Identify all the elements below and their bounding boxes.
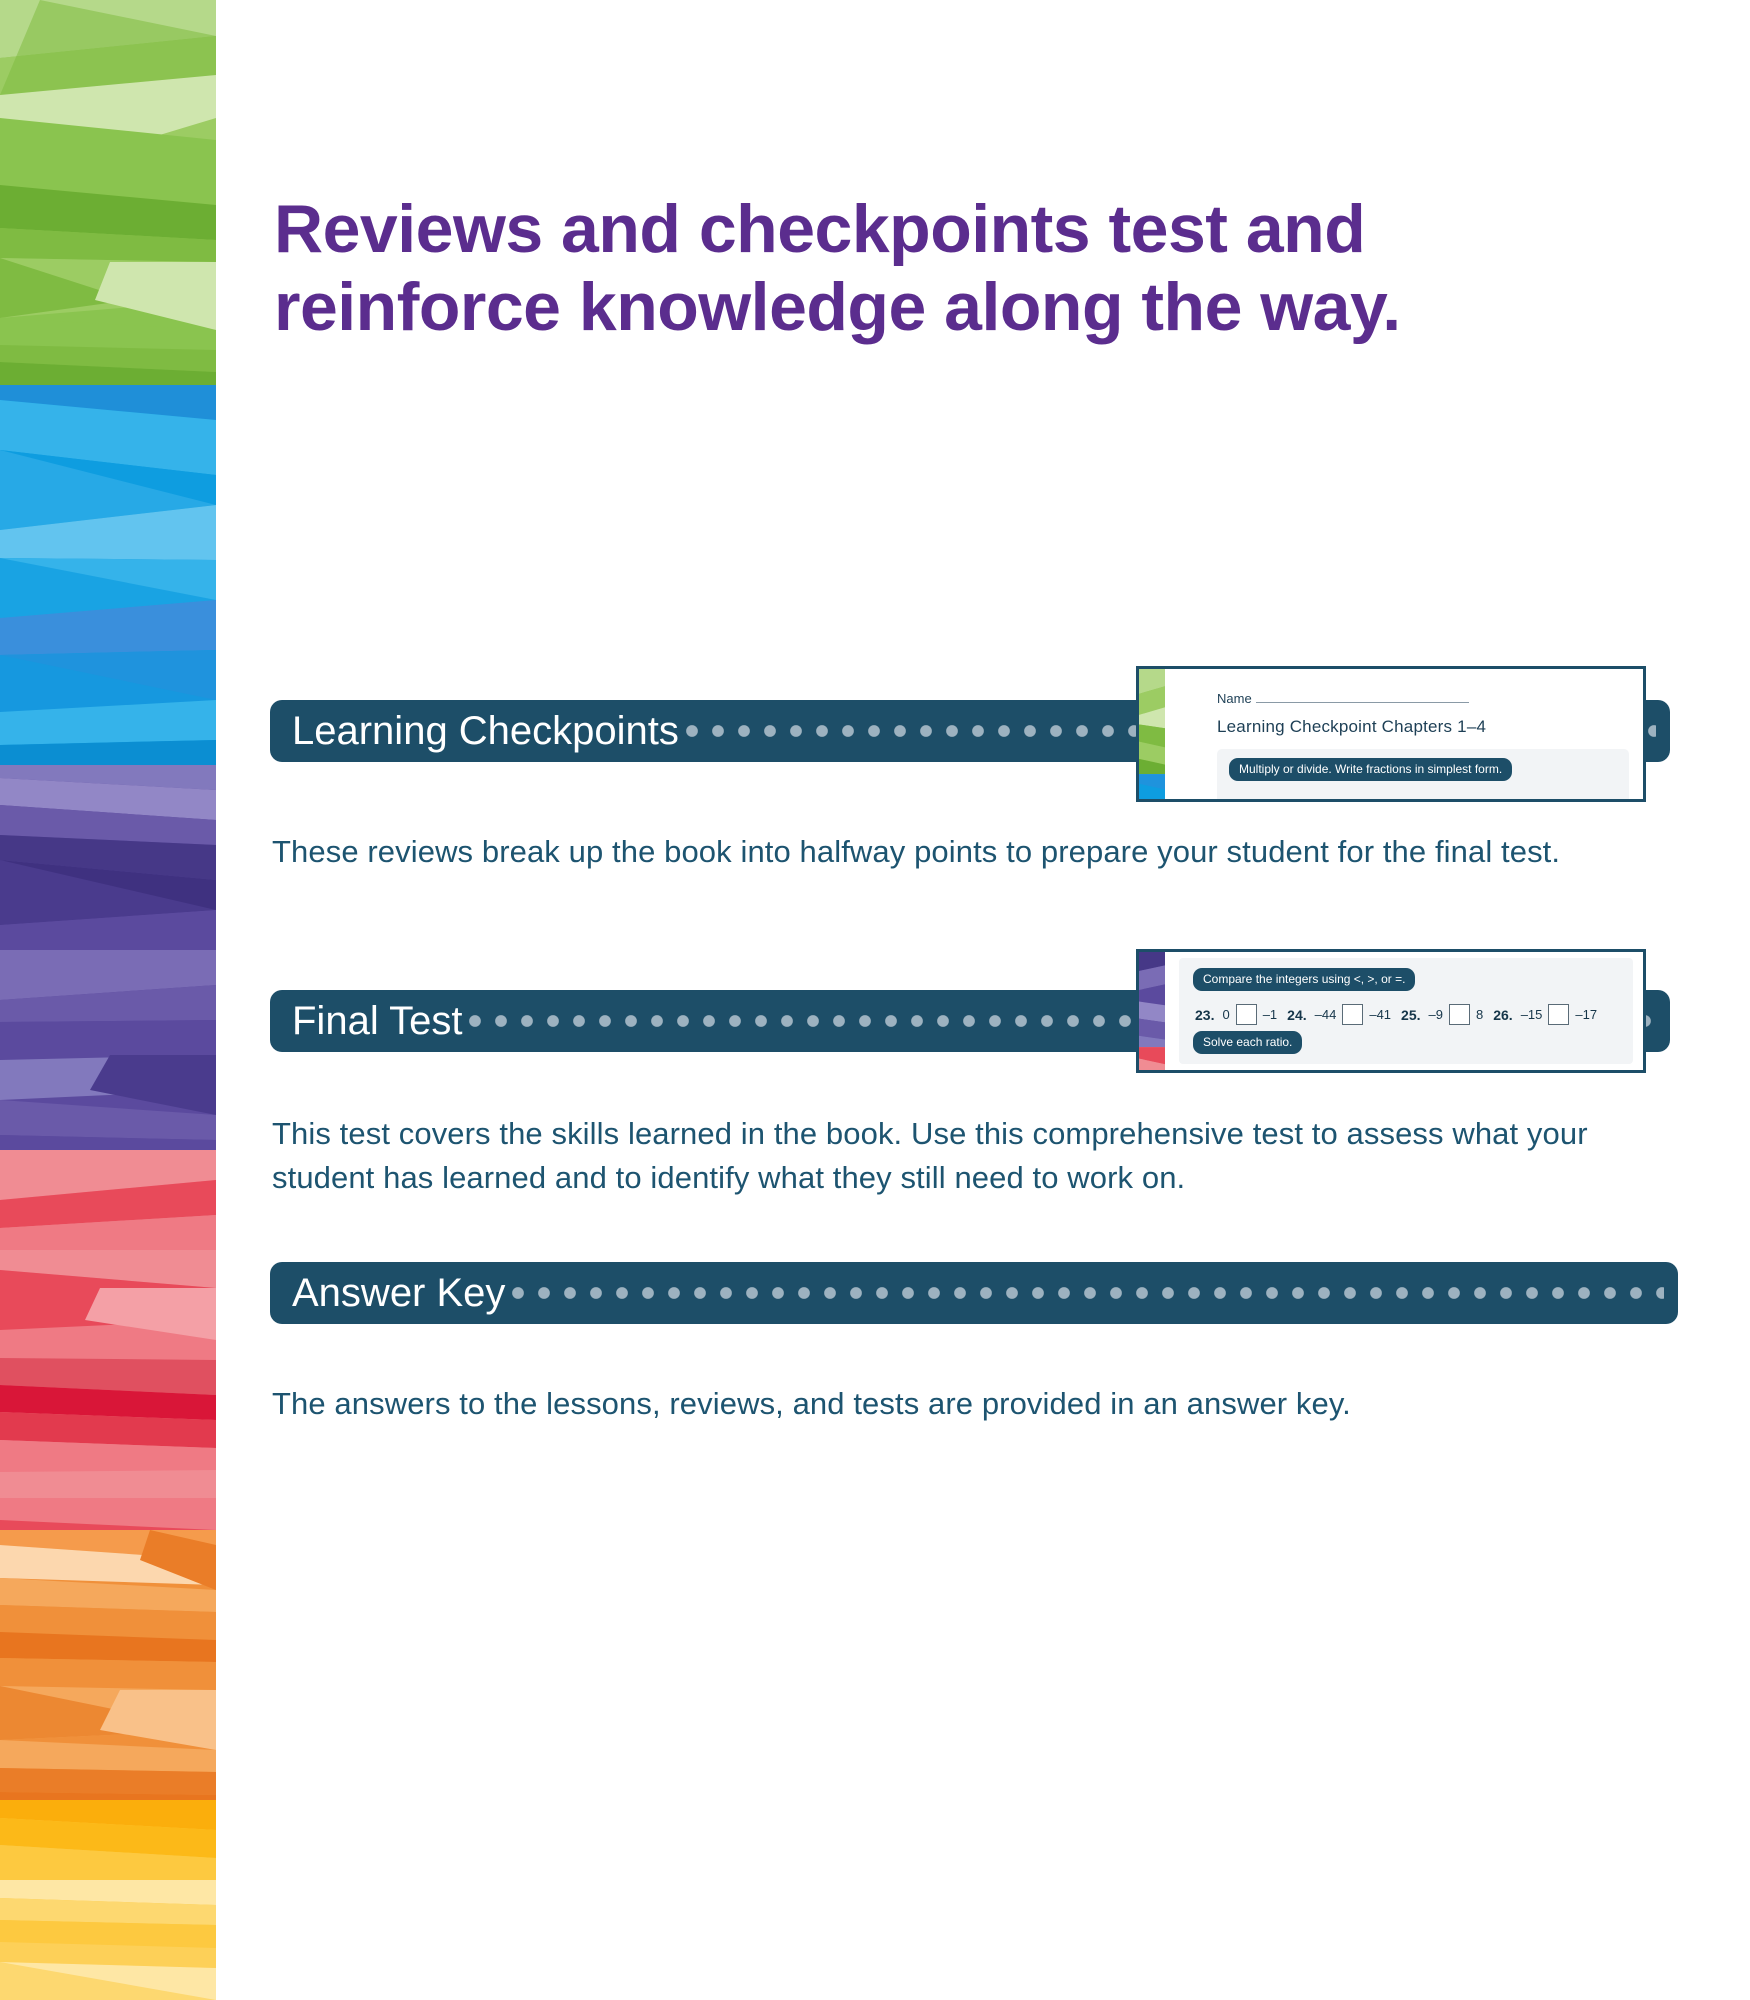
strip-band-blue <box>0 385 216 765</box>
strip-band-orange <box>0 1530 216 1800</box>
problem-item: 23. 0 –1 <box>1195 1004 1277 1025</box>
worksheet-problem-row: 23. 0 –1 24. –44 –41 25. –9 <box>1195 1004 1625 1025</box>
strip-band-yellow <box>0 1800 216 2000</box>
section-paragraph-learning-checkpoints: These reviews break up the book into hal… <box>272 830 1562 874</box>
section-header-label: Learning Checkpoints <box>270 711 679 751</box>
problem-left-operand: –15 <box>1521 1007 1543 1022</box>
worksheet-problem-panel: Multiply or divide. Write fractions in s… <box>1217 749 1629 799</box>
problem-number: 25. <box>1401 1007 1420 1023</box>
strip-band-red <box>0 1150 216 1530</box>
problem-right-operand: –17 <box>1575 1007 1597 1022</box>
problem-right-operand: 8 <box>1476 1007 1483 1022</box>
problem-number: 23. <box>1195 1007 1214 1023</box>
section-header-answer-key: Answer Key <box>270 1262 1678 1324</box>
worksheet-problem-panel: Compare the integers using <, >, or =. 2… <box>1179 958 1633 1064</box>
section-paragraph-answer-key: The answers to the lessons, reviews, and… <box>272 1382 1522 1426</box>
problem-left-operand: –44 <box>1315 1007 1337 1022</box>
problem-left-operand: –9 <box>1429 1007 1443 1022</box>
problem-item: 25. –9 8 <box>1401 1004 1483 1025</box>
answer-box[interactable] <box>1342 1004 1363 1025</box>
problem-number: 24. <box>1287 1007 1306 1023</box>
page-title-line1: Reviews and checkpoints test and <box>274 190 1574 268</box>
worksheet-thumbnail-learning-checkpoint: Name Learning Checkpoint Chapters 1–4 Mu… <box>1136 666 1646 802</box>
section-paragraph-final-test: This test covers the skills learned in t… <box>272 1112 1592 1200</box>
worksheet-name-field: Name <box>1217 691 1469 706</box>
worksheet-thumbnail-final-test: Compare the integers using <, >, or =. 2… <box>1136 949 1646 1073</box>
thumbnail-color-stripe-green <box>1139 669 1165 799</box>
page-title: Reviews and checkpoints test and reinfor… <box>274 190 1574 346</box>
strip-band-purple <box>0 765 216 1150</box>
worksheet-instruction-pill: Multiply or divide. Write fractions in s… <box>1229 758 1512 781</box>
problem-right-operand: –1 <box>1263 1007 1277 1022</box>
worksheet-title: Learning Checkpoint Chapters 1–4 <box>1217 717 1486 737</box>
page-title-line2: reinforce knowledge along the way. <box>274 268 1574 346</box>
page-root: Reviews and checkpoints test and reinfor… <box>0 0 1750 2000</box>
dotted-leader <box>511 1286 1664 1300</box>
problem-number: 26. <box>1493 1007 1512 1023</box>
problem-item: 24. –44 –41 <box>1287 1004 1391 1025</box>
answer-box[interactable] <box>1236 1004 1257 1025</box>
problem-left-operand: 0 <box>1222 1007 1229 1022</box>
problem-item: 26. –15 –17 <box>1493 1004 1597 1025</box>
thumbnail-page-body: Name Learning Checkpoint Chapters 1–4 Mu… <box>1165 669 1643 799</box>
worksheet-name-rule <box>1256 702 1469 703</box>
section-header-label: Final Test <box>270 1001 462 1041</box>
decorative-color-strip <box>0 0 216 2000</box>
problem-right-operand: –41 <box>1369 1007 1391 1022</box>
answer-box[interactable] <box>1449 1004 1470 1025</box>
section-header-label: Answer Key <box>270 1273 505 1313</box>
thumbnail-color-stripe-purple <box>1139 952 1165 1070</box>
worksheet-name-label: Name <box>1217 691 1252 706</box>
thumbnail-page-body: Compare the integers using <, >, or =. 2… <box>1165 952 1643 1070</box>
strip-band-green <box>0 0 216 385</box>
answer-box[interactable] <box>1548 1004 1569 1025</box>
worksheet-instruction-pill-bottom: Solve each ratio. <box>1193 1031 1302 1054</box>
worksheet-instruction-pill-top: Compare the integers using <, >, or =. <box>1193 968 1415 991</box>
